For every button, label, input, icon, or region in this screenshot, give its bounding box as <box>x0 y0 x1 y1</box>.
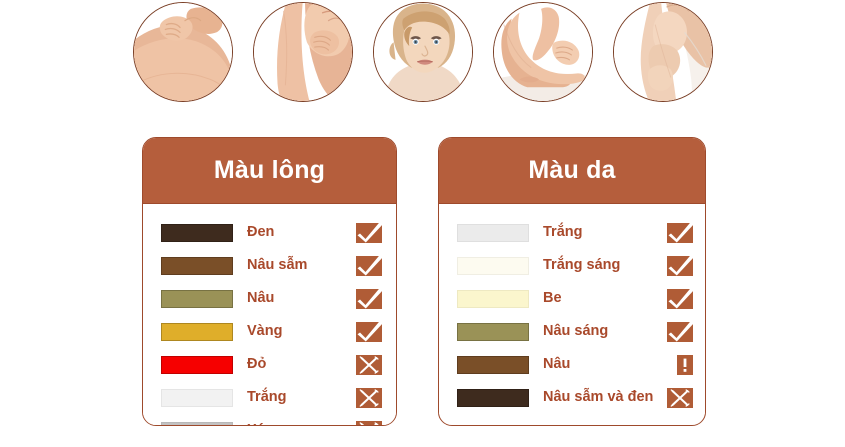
legs-photo <box>493 2 593 102</box>
face-photo-art <box>374 3 472 101</box>
status-icon-slot <box>677 355 693 375</box>
shoulder-back-photo-art <box>134 3 232 101</box>
color-row[interactable]: Nâu <box>439 348 705 381</box>
color-swatch <box>457 389 529 407</box>
color-swatch <box>457 257 529 275</box>
status-icon-slot <box>356 388 382 408</box>
color-row-label: Be <box>543 291 562 306</box>
cross-icon <box>356 388 382 408</box>
check-icon <box>667 322 693 342</box>
face-photo <box>373 2 473 102</box>
check-icon <box>667 256 693 276</box>
infographic-root: Màu lông Đen Nâu sẫm Nâu Vàng <box>0 0 845 447</box>
check-icon <box>356 289 382 309</box>
color-swatch <box>161 356 233 374</box>
color-row[interactable]: Trắng sáng <box>439 249 705 282</box>
color-row[interactable]: Trắng <box>439 216 705 249</box>
check-icon <box>356 256 382 276</box>
check-icon <box>667 223 693 243</box>
color-row-label: Nâu sẫm và đen <box>543 390 653 405</box>
status-icon-slot <box>667 388 693 408</box>
status-icon-slot <box>667 256 693 276</box>
color-row-label: Đỏ <box>247 357 266 372</box>
color-row[interactable]: Vàng <box>143 315 396 348</box>
check-icon <box>356 322 382 342</box>
exclamation-icon <box>677 355 693 375</box>
color-row[interactable]: Be <box>439 282 705 315</box>
color-swatch <box>457 356 529 374</box>
check-icon <box>356 223 382 243</box>
color-row-label: Đen <box>247 225 274 240</box>
skin-color-card-header: Màu da <box>439 138 705 204</box>
color-swatch <box>161 389 233 407</box>
shoulder-back-photo <box>133 2 233 102</box>
photo-circle-strip <box>0 2 845 112</box>
color-row-label: Vàng <box>247 324 282 339</box>
color-swatch <box>161 224 233 242</box>
cross-icon <box>667 388 693 408</box>
status-icon-slot <box>356 355 382 375</box>
color-row-label: Xám <box>247 423 278 426</box>
status-icon-slot <box>356 223 382 243</box>
arm-photo <box>613 2 713 102</box>
color-row-label: Nâu sáng <box>543 324 608 339</box>
hair-color-card-header: Màu lông <box>143 138 396 204</box>
cross-icon <box>356 355 382 375</box>
status-icon-slot <box>356 289 382 309</box>
skin-color-card: Màu da Trắng Trắng sáng Be Nâu sáng <box>438 137 706 426</box>
underarm-photo-art <box>254 3 352 101</box>
color-row[interactable]: Đen <box>143 216 396 249</box>
status-icon-slot <box>356 421 382 427</box>
hair-color-card-title: Màu lông <box>214 158 325 183</box>
color-row[interactable]: Trắng <box>143 381 396 414</box>
color-row-label: Trắng <box>543 225 582 240</box>
color-row-label: Trắng <box>247 390 286 405</box>
check-icon <box>667 289 693 309</box>
color-row[interactable]: Nâu sẫm <box>143 249 396 282</box>
color-swatch <box>457 290 529 308</box>
skin-color-card-title: Màu da <box>528 158 615 183</box>
color-swatch <box>161 422 233 427</box>
arm-photo-art <box>614 3 712 101</box>
color-row-label: Nâu <box>543 357 570 372</box>
color-swatch <box>161 257 233 275</box>
hair-color-card-body: Đen Nâu sẫm Nâu Vàng Đỏ <box>143 204 396 426</box>
color-row[interactable]: Xám <box>143 414 396 426</box>
color-swatch <box>457 224 529 242</box>
color-swatch <box>457 323 529 341</box>
color-row[interactable]: Nâu sáng <box>439 315 705 348</box>
status-icon-slot <box>667 289 693 309</box>
legs-photo-art <box>494 3 592 101</box>
color-row-label: Nâu <box>247 291 274 306</box>
hair-color-card: Màu lông Đen Nâu sẫm Nâu Vàng <box>142 137 397 426</box>
color-row[interactable]: Nâu sẫm và đen <box>439 381 705 414</box>
status-icon-slot <box>356 322 382 342</box>
underarm-photo <box>253 2 353 102</box>
color-row[interactable]: Đỏ <box>143 348 396 381</box>
status-icon-slot <box>667 223 693 243</box>
cross-icon <box>356 421 382 427</box>
color-swatch <box>161 323 233 341</box>
color-row-label: Nâu sẫm <box>247 258 307 273</box>
color-swatch <box>161 290 233 308</box>
status-icon-slot <box>356 256 382 276</box>
color-row-label: Trắng sáng <box>543 258 620 273</box>
color-row[interactable]: Nâu <box>143 282 396 315</box>
status-icon-slot <box>667 322 693 342</box>
skin-color-card-body: Trắng Trắng sáng Be Nâu sáng Nâu <box>439 204 705 414</box>
